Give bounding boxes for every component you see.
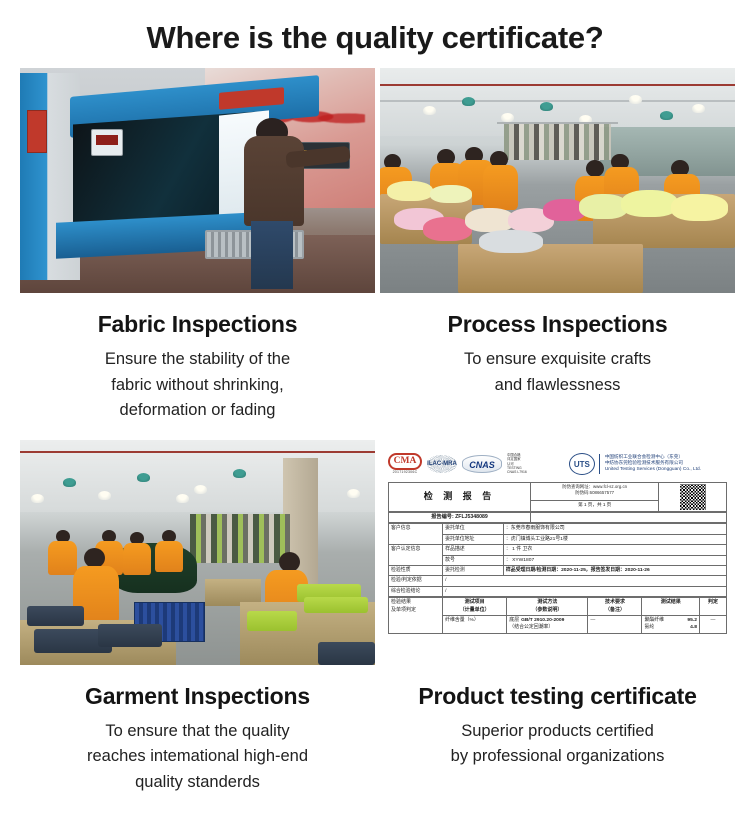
card-garment-inspections: Garment Inspections To ensure that the q… (20, 440, 375, 796)
report-title: 检 测 报 告 (391, 490, 528, 504)
corner-label-line: 及单项判定 (391, 607, 440, 615)
ceiling-lamp (137, 473, 150, 482)
ceiling-lamp (176, 494, 189, 503)
results-col-header: 测试项目 （计量单位） (443, 598, 507, 616)
table-row: 客户信息 委托单位 ：东莞市春雨服饰有限公司 (389, 524, 727, 534)
ceiling-lamp (501, 113, 514, 122)
cnas-sub-text: 中国合格 评定国家 认可 TESTING CNAS L7916 (507, 453, 527, 474)
card-fabric-inspections: Fabric Inspections Ensure the stability … (20, 68, 375, 424)
test-report-document: CMA 2017192306C ILAC-MRA CNAS 中国合格 评定国家 … (380, 440, 735, 665)
test-verdict: — (699, 616, 726, 634)
row-group-label: 综合检验结论 (389, 586, 443, 596)
anti-fake-code: 防伪码:6086657577 (533, 490, 656, 497)
worker-head (586, 160, 604, 177)
process-inspection-photo (380, 68, 735, 293)
desc-line: by professional organizations (394, 744, 721, 770)
ceiling-lamp (31, 494, 44, 503)
col-header-sub: （参数说明） (509, 607, 585, 615)
worker (48, 541, 76, 575)
garment-rack (504, 124, 611, 160)
card-description: To ensure exquisite crafts and flawlessn… (380, 347, 735, 398)
desc-line: and flawlessness (394, 373, 721, 399)
results-corner-label: 检验结果 及单项判定 (389, 598, 443, 634)
ceiling-lamp (423, 106, 436, 115)
garment-bundle (621, 190, 678, 217)
report-number-table: 报告编号: ZFLJ5348089 (388, 512, 727, 524)
results-col-header: 测试方法 （参数说明） (507, 598, 588, 616)
folded-dark-garment (318, 642, 375, 665)
report-number-value: ZFLJ5348089 (455, 514, 488, 520)
results-col-header: 测试结果 (642, 598, 699, 616)
test-results: 聚酯纤维 95.2 氨纶 4.8 (642, 616, 699, 634)
ceiling-lamp (660, 111, 673, 120)
test-method-note: （结合公定回潮率） (509, 624, 585, 631)
ceiling-lamp (194, 485, 207, 494)
anti-fake-code-value: 6086657577 (590, 490, 614, 495)
metal-pipe (380, 100, 735, 102)
ceiling-lamp (462, 97, 475, 106)
quality-certificate-page: Where is the quality certificate? Fabri (0, 0, 750, 840)
col-header-main: 技术要求 (590, 599, 639, 607)
garment-bundle (430, 185, 473, 203)
worker (155, 541, 183, 573)
card-description: Superior products certified by professio… (380, 719, 735, 770)
result-value: 4.8 (690, 624, 697, 631)
accreditation-logos: CMA 2017192306C ILAC-MRA CNAS 中国合格 评定国家 … (388, 453, 527, 474)
table-row: 综合检验结论 / (389, 586, 727, 596)
folded-dark-garment (27, 606, 84, 626)
worker-legs (251, 221, 294, 289)
garment-rack (190, 514, 289, 564)
corner-label-line: 检验结果 (391, 599, 440, 607)
table-row: 客户认定信息 样品描述 ： 1 件 卫衣 (389, 545, 727, 555)
anti-fake-web-label: 防伪查询网址： (562, 484, 593, 489)
card-process-inspections: Process Inspections To ensure exquisite … (380, 68, 735, 424)
uts-name-en: United Testing Services (Dongguan) Co., … (605, 467, 701, 474)
garment-bundle (479, 230, 543, 253)
row-value: / (443, 576, 727, 586)
garment-bundle (387, 181, 433, 201)
col-header-sub: （计量单位） (445, 607, 504, 615)
report-number: 报告编号: ZFLJ5348089 (391, 514, 528, 522)
ceiling-lamp (98, 491, 111, 500)
card-title: Process Inspections (380, 311, 735, 338)
results-col-header: 判定 (699, 598, 726, 616)
report-number-label: 报告编号: (431, 514, 453, 520)
result-value: 95.2 (687, 617, 697, 624)
row-group-label: 检验/判定依据 (389, 576, 443, 586)
col-header-main: 测试方法 (509, 599, 585, 607)
cma-logo: CMA (388, 453, 422, 470)
row-value: 样品受理日期/检测日期：2020-11-25，报告签发日期：2020-11-26 (503, 565, 726, 575)
worker-body (244, 136, 304, 226)
table-row: 检验性质 委托检测 样品受理日期/检测日期：2020-11-25，报告签发日期：… (389, 565, 727, 575)
worker (483, 165, 519, 210)
result-entry: 氨纶 4.8 (644, 624, 696, 631)
worker-head-foreground (84, 548, 105, 568)
folded-green-garment (304, 597, 368, 613)
row-value: ： XYW1807 (503, 555, 726, 565)
row-group-label: 检验性质 (389, 565, 443, 575)
test-method-standard: GB/T 2910.20-2009 (509, 617, 585, 624)
ilac-mra-logo: ILAC-MRA (427, 455, 457, 473)
cma-logo-wrap: CMA 2017192306C (388, 453, 422, 474)
document-body: CMA 2017192306C ILAC-MRA CNAS 中国合格 评定国家 … (380, 440, 735, 665)
anti-fake-code-label: 防伪码: (575, 490, 589, 495)
uts-logo: UTS (569, 453, 595, 475)
table-row: 检验/判定依据 / (389, 576, 727, 586)
desc-line: fabric without shrinking, (34, 373, 361, 399)
fabric-inspection-photo (20, 68, 375, 293)
cards-grid: Fabric Inspections Ensure the stability … (0, 68, 750, 795)
cma-code: 2017192306C (388, 470, 422, 474)
folded-green-garment (247, 611, 297, 631)
results-col-header: 技术要求 （备注） (588, 598, 642, 616)
row-group-label: 客户信息 (389, 524, 443, 545)
uts-name-cn2: 中纺协东莞检验检测技术服务有限公司 (605, 460, 701, 467)
row-value: ： 1 件 卫衣 (503, 545, 726, 555)
results-header-row: 检验结果 及单项判定 测试项目 （计量单位） 测试方法 （参数说明） (389, 598, 727, 616)
desc-line: To ensure that the quality (34, 719, 361, 745)
test-layer: 底层 (509, 617, 521, 624)
card-title: Fabric Inspections (20, 311, 375, 338)
customer-info-table: 客户信息 委托单位 ：东莞市春雨服饰有限公司 委托单位地址 ：虎门镇博头工业路2… (388, 523, 727, 597)
cnas-sub-line: CNAS L7916 (507, 470, 527, 474)
row-value: / (443, 586, 727, 596)
card-product-testing-certificate: CMA 2017192306C ILAC-MRA CNAS 中国合格 评定国家 … (380, 440, 735, 796)
page-info: 第 1 页，共 1 页 (533, 502, 656, 509)
card-title: Garment Inspections (20, 683, 375, 710)
result-name: 氨纶 (644, 625, 654, 630)
folded-dark-garment (98, 624, 162, 647)
test-item: 纤维含量（%） (443, 616, 507, 634)
ceiling-lamp (629, 95, 642, 104)
row-group-label: 客户认定信息 (389, 545, 443, 566)
row-value: ：虎门镇博头工业路21号1楼 (503, 534, 726, 544)
desc-line: Superior products certified (394, 719, 721, 745)
page-title: Where is the quality certificate? (0, 0, 750, 68)
desc-line: To ensure exquisite crafts (394, 347, 721, 373)
card-description: To ensure that the quality reaches intem… (20, 719, 375, 796)
test-requirement: — (588, 616, 642, 634)
qr-code (680, 484, 706, 510)
report-title-table: 检 测 报 告 防伪查询网址：www.fcl-sz.org.cn 防伪码:608… (388, 482, 727, 512)
result-name: 聚酯纤维 (644, 618, 664, 623)
desc-line: quality standerds (34, 770, 361, 796)
garment-bundle (671, 194, 728, 221)
uts-lab-identity: UTS 中国纺织工业联合会检测中心（东莞） 中纺协东莞检验检测技术服务有限公司 … (569, 453, 727, 475)
col-header-sub: （备注） (590, 607, 639, 615)
row-label: 委托单位地址 (443, 534, 504, 544)
col-header-main: 测试项目 (445, 599, 504, 607)
row-label: 款号 (443, 555, 504, 565)
garment-inspection-photo (20, 440, 375, 665)
desc-line: reaches intemational high-end (34, 744, 361, 770)
document-header: CMA 2017192306C ILAC-MRA CNAS 中国合格 评定国家 … (388, 446, 727, 482)
control-box (91, 129, 123, 156)
desc-line: deformation or fading (34, 398, 361, 424)
desc-line: Ensure the stability of the (34, 347, 361, 373)
uts-name-block: 中国纺织工业联合会检测中心（东莞） 中纺协东莞检验检测技术服务有限公司 Unit… (599, 454, 701, 474)
ceiling-lamp (540, 102, 553, 111)
test-method: 底层 GB/T 2910.20-2009 （结合公定回潮率） (507, 616, 588, 634)
row-label: 委托单位 (443, 524, 504, 534)
cnas-logo-wrap: CNAS (462, 455, 502, 473)
row-label: 样品描述 (443, 545, 504, 555)
result-entry: 聚酯纤维 95.2 (644, 617, 696, 624)
cnas-logo: CNAS (462, 455, 502, 473)
work-table (458, 244, 643, 294)
test-results-table: 检验结果 及单项判定 测试项目 （计量单位） 测试方法 （参数说明） (388, 597, 727, 634)
red-pipe (20, 451, 375, 453)
ceiling-lamp (63, 478, 76, 487)
card-description: Ensure the stability of the fabric witho… (20, 347, 375, 424)
anti-fake-web-value: www.fcl-sz.org.cn (593, 484, 627, 489)
row-value: ：东莞市春雨服饰有限公司 (503, 524, 726, 534)
row-label: 委托检测 (443, 565, 504, 575)
card-title: Product testing certificate (380, 683, 735, 710)
red-pipe (380, 84, 735, 86)
worker (123, 543, 151, 575)
ceiling-lamp (347, 489, 360, 498)
ceiling-lamp (233, 469, 246, 478)
ceiling-lamp (692, 104, 705, 113)
